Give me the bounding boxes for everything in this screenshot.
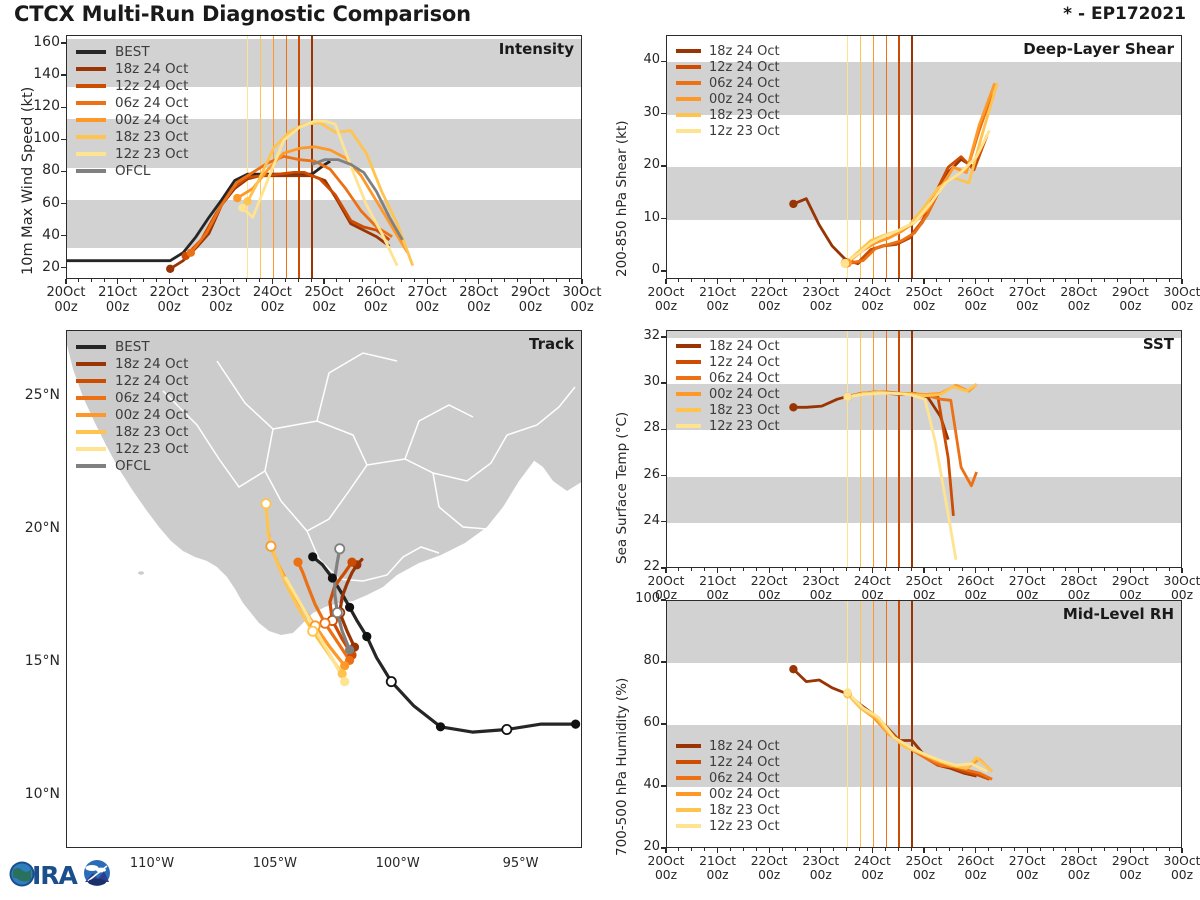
legend-label: 18z 23 Oct [709, 403, 780, 418]
legend-item: 00z 24 Oct [76, 406, 188, 423]
legend-label: 06z 24 Oct [709, 76, 780, 91]
x-tick-mark [769, 848, 770, 853]
legend-item: 12z 23 Oct [676, 818, 780, 834]
x-minor-tick [1091, 848, 1092, 851]
x-minor-tick [859, 848, 860, 851]
legend-label: OFCL [115, 458, 150, 474]
x-minor-tick [988, 848, 989, 851]
intensity-legend: BEST18z 24 Oct12z 24 Oct06z 24 Oct00z 24… [76, 43, 188, 179]
legend-label: 18z 24 Oct [709, 44, 780, 59]
legend-swatch-06z-24-oct [676, 376, 701, 380]
legend-swatch-18z-23-oct [76, 430, 106, 434]
legend-label: BEST [115, 44, 150, 60]
x-tick-hour: 00z [1068, 868, 1090, 882]
x-minor-tick [949, 848, 950, 851]
x-tick-mark [665, 848, 666, 853]
series-init-marker [843, 688, 851, 696]
legend-label: 00z 24 Oct [115, 407, 188, 423]
legend-item: 06z 24 Oct [676, 75, 780, 91]
x-minor-tick [1014, 848, 1015, 851]
legend-item: 12z 23 Oct [76, 440, 188, 457]
legend-item: 12z 24 Oct [76, 372, 188, 389]
legend-swatch-06z-24-oct [76, 101, 106, 105]
x-tick-date: 29Oct [1112, 854, 1149, 868]
legend-item: 12z 23 Oct [76, 145, 188, 162]
legend-label: 18z 23 Oct [709, 108, 780, 123]
legend-label: BEST [115, 339, 150, 355]
legend-label: 12z 23 Oct [709, 124, 780, 139]
legend-swatch-18z-23-oct [676, 408, 701, 412]
legend-swatch-best [76, 345, 106, 349]
series-init-marker [789, 665, 797, 673]
legend-swatch-12z-24-oct [76, 84, 106, 88]
series-line-18z-24-oct [793, 669, 976, 776]
x-tick-date: 26Oct [957, 854, 994, 868]
legend-item: 18z 24 Oct [676, 43, 780, 59]
x-minor-tick [1117, 848, 1118, 851]
legend-label: 00z 24 Oct [709, 387, 780, 402]
legend-item: 12z 24 Oct [676, 59, 780, 75]
x-tick-date: 21Oct [699, 854, 736, 868]
y-tick-mark [661, 661, 666, 662]
legend-item: 06z 24 Oct [676, 370, 780, 386]
legend-swatch-18z-24-oct [76, 362, 106, 366]
legend-swatch-00z-24-oct [76, 413, 106, 417]
x-minor-tick [743, 848, 744, 851]
legend-swatch-12z-24-oct [676, 760, 701, 764]
x-tick-date: 20Oct [648, 854, 685, 868]
legend-swatch-00z-24-oct [676, 392, 701, 396]
y-tick-label: 100 [618, 591, 660, 606]
x-minor-tick [691, 848, 692, 851]
x-tick-date: 22Oct [751, 854, 788, 868]
legend-swatch-18z-23-oct [76, 135, 106, 139]
x-minor-tick [911, 848, 912, 851]
legend-item: BEST [76, 43, 188, 60]
legend-item: 18z 24 Oct [76, 60, 188, 77]
legend-swatch-18z-24-oct [676, 744, 701, 748]
x-minor-tick [833, 848, 834, 851]
legend-label: 06z 24 Oct [709, 771, 780, 786]
y-tick-mark [661, 723, 666, 724]
x-tick-mark [820, 848, 821, 853]
x-tick-mark [872, 848, 873, 853]
legend-item: 18z 23 Oct [676, 802, 780, 818]
x-tick-hour: 00z [913, 868, 935, 882]
legend-swatch-12z-23-oct [676, 824, 701, 828]
legend-item: 00z 24 Oct [676, 786, 780, 802]
legend-label: 18z 24 Oct [115, 61, 188, 77]
legend-swatch-12z-23-oct [76, 152, 106, 156]
legend-item: 12z 24 Oct [76, 77, 188, 94]
legend-label: 12z 23 Oct [115, 441, 188, 457]
x-minor-tick [1001, 848, 1002, 851]
y-tick-mark [661, 599, 666, 600]
x-minor-tick [898, 848, 899, 851]
panel-title-track: Track [529, 335, 574, 353]
legend-item: 12z 24 Oct [676, 354, 780, 370]
panel-title-rh: Mid-Level RH [1063, 605, 1174, 623]
x-minor-tick [1143, 848, 1144, 851]
legend-item: 06z 24 Oct [676, 770, 780, 786]
x-minor-tick [730, 848, 731, 851]
legend-label: 18z 23 Oct [115, 129, 188, 145]
x-tick-mark [975, 848, 976, 853]
x-tick-hour: 00z [1171, 868, 1193, 882]
x-tick-hour: 00z [1119, 868, 1141, 882]
x-minor-tick [846, 848, 847, 851]
legend-swatch-12z-23-oct [676, 424, 701, 428]
legend-swatch-18z-23-oct [676, 113, 701, 117]
x-minor-tick [1065, 848, 1066, 851]
legend-swatch-12z-23-oct [676, 129, 701, 133]
x-minor-tick [962, 848, 963, 851]
x-tick-mark [1130, 848, 1131, 853]
x-tick-date: 30Oct [1164, 854, 1200, 868]
cira-logo: IRA [8, 853, 126, 895]
legend-label: 12z 24 Oct [115, 78, 188, 94]
legend-swatch-00z-24-oct [676, 792, 701, 796]
x-tick-date: 28Oct [1060, 854, 1097, 868]
legend-item: 12z 23 Oct [676, 123, 780, 139]
x-minor-tick [1156, 848, 1157, 851]
panel-title-intensity: Intensity [499, 40, 574, 58]
x-tick-hour: 00z [707, 868, 729, 882]
x-minor-tick [678, 848, 679, 851]
legend-swatch-18z-23-oct [676, 808, 701, 812]
x-minor-tick [885, 848, 886, 851]
x-minor-tick [1104, 848, 1105, 851]
legend-item: 12z 23 Oct [676, 418, 780, 434]
legend-label: 18z 23 Oct [709, 803, 780, 818]
legend-swatch-18z-24-oct [676, 344, 701, 348]
legend-item: OFCL [76, 457, 188, 474]
x-tick-hour: 00z [810, 868, 832, 882]
legend-label: OFCL [115, 163, 150, 179]
legend-swatch-06z-24-oct [76, 396, 106, 400]
x-tick-mark [717, 848, 718, 853]
legend-swatch-ofcl [76, 464, 106, 468]
legend-item: BEST [76, 338, 188, 355]
legend-label: 18z 24 Oct [115, 356, 188, 372]
x-tick-hour: 00z [861, 868, 883, 882]
x-tick-date: 23Oct [802, 854, 839, 868]
panel-title-shear: Deep-Layer Shear [1023, 40, 1174, 58]
x-tick-hour: 00z [655, 868, 677, 882]
x-tick-hour: 00z [1016, 868, 1038, 882]
track-legend: BEST18z 24 Oct12z 24 Oct06z 24 Oct00z 24… [76, 338, 188, 474]
legend-label: 12z 23 Oct [709, 819, 780, 834]
legend-swatch-00z-24-oct [676, 97, 701, 101]
legend-item: 06z 24 Oct [76, 389, 188, 406]
x-minor-tick [704, 848, 705, 851]
legend-label: 12z 24 Oct [115, 373, 188, 389]
legend-label: 06z 24 Oct [709, 371, 780, 386]
x-tick-date: 27Oct [1009, 854, 1046, 868]
x-minor-tick [756, 848, 757, 851]
legend-label: 18z 24 Oct [709, 339, 780, 354]
legend-swatch-ofcl [76, 169, 106, 173]
legend-label: 00z 24 Oct [709, 787, 780, 802]
legend-item: 00z 24 Oct [676, 91, 780, 107]
legend-item: OFCL [76, 162, 188, 179]
legend-item: 00z 24 Oct [76, 111, 188, 128]
legend-item: 18z 23 Oct [676, 107, 780, 123]
x-minor-tick [1053, 848, 1054, 851]
svg-text:IRA: IRA [32, 861, 79, 890]
x-minor-tick [1040, 848, 1041, 851]
legend-swatch-best [76, 50, 106, 54]
legend-item: 06z 24 Oct [76, 94, 188, 111]
x-minor-tick [936, 848, 937, 851]
legend-swatch-12z-24-oct [676, 65, 701, 69]
x-minor-tick [782, 848, 783, 851]
legend-item: 00z 24 Oct [676, 386, 780, 402]
legend-label: 12z 24 Oct [709, 755, 780, 770]
panel-title-sst: SST [1143, 335, 1174, 353]
legend-label: 06z 24 Oct [115, 390, 188, 406]
shear-legend: 18z 24 Oct12z 24 Oct06z 24 Oct00z 24 Oct… [676, 43, 780, 139]
x-tick-mark [1027, 848, 1028, 853]
x-tick-date: 24Oct [854, 854, 891, 868]
legend-swatch-06z-24-oct [676, 81, 701, 85]
legend-swatch-18z-24-oct [676, 49, 701, 53]
x-tick-date: 25Oct [906, 854, 943, 868]
legend-swatch-06z-24-oct [676, 776, 701, 780]
legend-label: 18z 24 Oct [709, 739, 780, 754]
x-tick-hour: 00z [758, 868, 780, 882]
legend-label: 00z 24 Oct [115, 112, 188, 128]
series-line-12z-23-oct [848, 693, 987, 772]
legend-label: 06z 24 Oct [115, 95, 188, 111]
legend-item: 18z 24 Oct [76, 355, 188, 372]
legend-item: 18z 24 Oct [676, 738, 780, 754]
legend-swatch-12z-24-oct [676, 360, 701, 364]
legend-label: 18z 23 Oct [115, 424, 188, 440]
legend-swatch-12z-23-oct [76, 447, 106, 451]
legend-item: 18z 23 Oct [76, 423, 188, 440]
x-tick-hour: 00z [965, 868, 987, 882]
x-tick-mark [1181, 848, 1182, 853]
legend-swatch-12z-24-oct [76, 379, 106, 383]
y-axis-title-rh: 700-500 hPa Humidity (%) [614, 678, 630, 856]
legend-item: 18z 23 Oct [676, 402, 780, 418]
rh-legend: 18z 24 Oct12z 24 Oct06z 24 Oct00z 24 Oct… [676, 738, 780, 834]
legend-label: 12z 24 Oct [709, 355, 780, 370]
x-minor-tick [1169, 848, 1170, 851]
x-tick-label: 30Oct00z [1146, 854, 1200, 882]
series-line-00z-24-oct [848, 694, 993, 772]
series-line-18z-23-oct [848, 694, 993, 772]
legend-item: 12z 24 Oct [676, 754, 780, 770]
y-tick-label: 80 [618, 653, 660, 668]
legend-item: 18z 24 Oct [676, 338, 780, 354]
x-minor-tick [795, 848, 796, 851]
y-tick-mark [661, 785, 666, 786]
legend-label: 12z 23 Oct [709, 419, 780, 434]
legend-label: 00z 24 Oct [709, 92, 780, 107]
legend-label: 12z 24 Oct [709, 60, 780, 75]
legend-label: 12z 23 Oct [115, 146, 188, 162]
x-minor-tick [807, 848, 808, 851]
legend-item: 18z 23 Oct [76, 128, 188, 145]
sst-legend: 18z 24 Oct12z 24 Oct06z 24 Oct00z 24 Oct… [676, 338, 780, 434]
legend-swatch-18z-24-oct [76, 67, 106, 71]
legend-swatch-00z-24-oct [76, 118, 106, 122]
x-tick-mark [1078, 848, 1079, 853]
x-tick-mark [923, 848, 924, 853]
